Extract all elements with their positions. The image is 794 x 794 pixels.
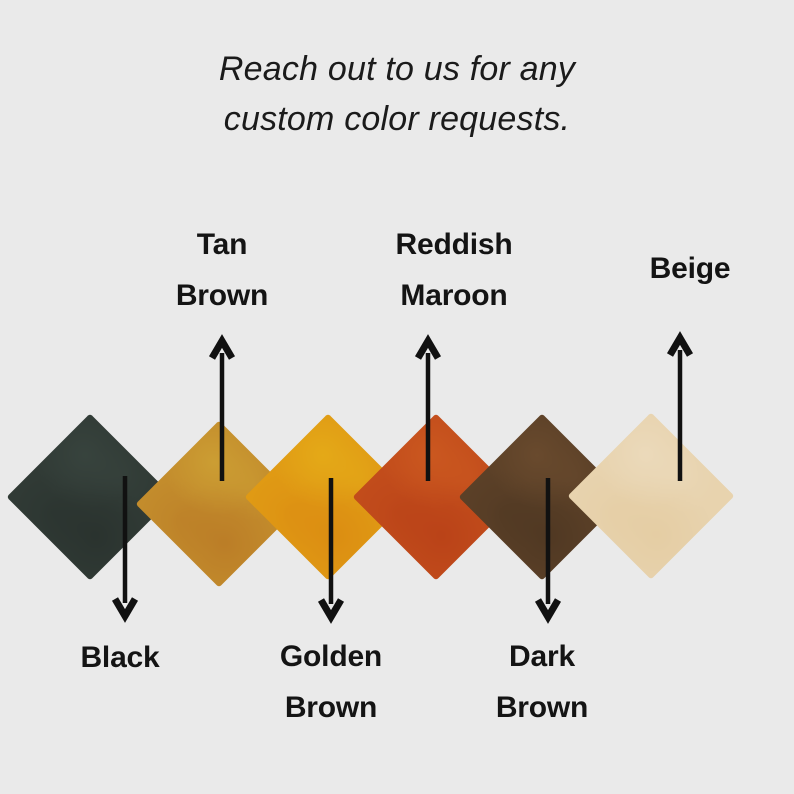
label-black: Black (45, 632, 195, 683)
swatch-beige[interactable] (568, 413, 735, 580)
arrow-up-icon-beige (667, 336, 693, 481)
arrow-down-icon-golden-brown (318, 478, 344, 620)
label-golden-brown: Golden Brown (255, 631, 407, 733)
swatch-texture (568, 413, 735, 580)
arrow-down-icon-black (112, 476, 138, 619)
page-title: Reach out to us for any custom color req… (0, 44, 794, 144)
arrow-up-icon-tan-brown (209, 339, 235, 481)
label-tan-brown: Tan Brown (147, 219, 297, 321)
label-dark-brown: Dark Brown (466, 631, 618, 733)
color-swatch-graphic: Reach out to us for any custom color req… (0, 0, 794, 794)
arrow-up-icon-reddish-maroon (415, 339, 441, 481)
label-beige: Beige (614, 243, 766, 294)
arrow-down-icon-dark-brown (535, 478, 561, 620)
label-reddish-maroon: Reddish Maroon (378, 219, 530, 321)
